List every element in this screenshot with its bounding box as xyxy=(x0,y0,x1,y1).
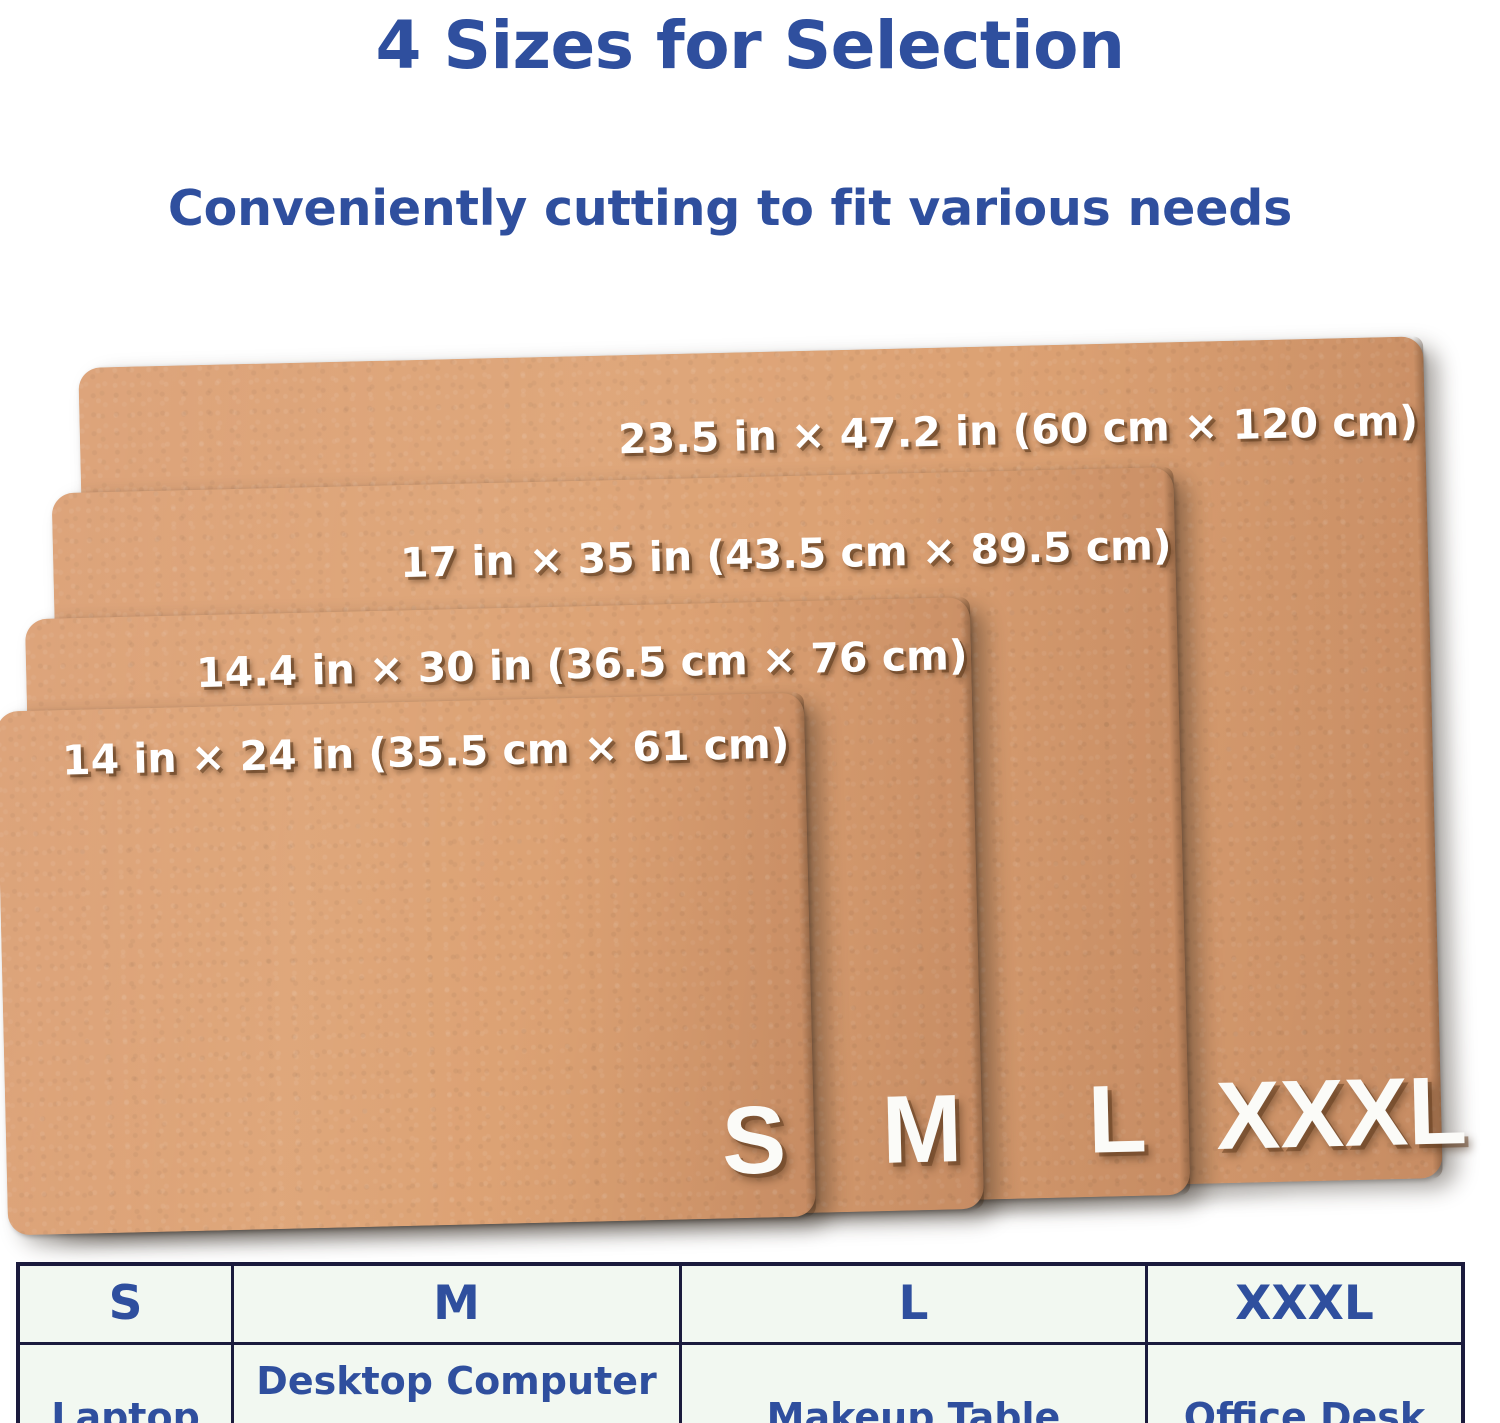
table-row-uses: Laptop Desktop Computer Table Makeup Tab… xyxy=(18,1344,1463,1423)
table-cell-use-l: Makeup Table xyxy=(681,1344,1147,1423)
table-cell-size-xxxl: XXXL xyxy=(1147,1264,1464,1344)
table-cell-size-l: L xyxy=(681,1264,1147,1344)
table-cell-use-m: Desktop Computer Table xyxy=(233,1344,681,1423)
table-cell-use-s: Laptop xyxy=(18,1344,233,1423)
table-cell-use-xxxl: Office Desk xyxy=(1147,1344,1464,1423)
size-letter-m: M xyxy=(881,1081,963,1179)
table-cell-size-m: M xyxy=(233,1264,681,1344)
page-subtitle: Conveniently cutting to fit various need… xyxy=(0,178,1460,240)
table-row-sizes: S M L XXXL xyxy=(18,1264,1463,1344)
page-title: 4 Sizes for Selection xyxy=(0,4,1500,88)
size-usage-table: S M L XXXL Laptop Desktop Computer Table… xyxy=(16,1262,1465,1423)
mat-stack: 23.5 in × 47.2 in (60 cm × 120 cm) 17 in… xyxy=(0,330,1500,1230)
size-letter-xxxl: XXXL xyxy=(1215,1063,1468,1165)
size-letter-l: L xyxy=(1087,1071,1148,1168)
table-cell-size-s: S xyxy=(18,1264,233,1344)
size-letter-s: S xyxy=(721,1092,787,1189)
infographic-page: 4 Sizes for Selection Conveniently cutti… xyxy=(0,0,1500,1423)
